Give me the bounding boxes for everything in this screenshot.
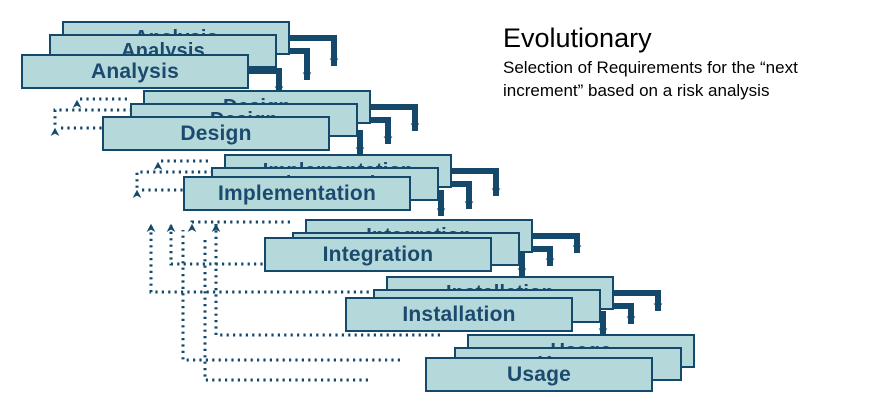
- phase-box-front-installation[interactable]: Installation: [345, 297, 573, 332]
- model-description: Selection of Requirements for the “next …: [503, 56, 875, 102]
- phase-label: Design: [180, 122, 251, 146]
- phase-box-front-usage[interactable]: Usage: [425, 357, 653, 392]
- evolutionary-model-diagram: AnalysisDesignImplementationIntegrationI…: [0, 0, 881, 407]
- model-title: Evolutionary: [503, 22, 875, 54]
- phase-label: Analysis: [91, 60, 179, 84]
- feedback-arrow-integration-to-implementation: [192, 222, 290, 224]
- phase-box-front-analysis[interactable]: Analysis: [21, 54, 249, 89]
- phase-label: Integration: [323, 243, 434, 267]
- phase-box-front-implementation[interactable]: Implementation: [183, 176, 411, 211]
- feedback-arrow-implementation-to-design: [158, 161, 208, 162]
- phase-label: Usage: [507, 363, 571, 387]
- phase-label: Implementation: [218, 182, 376, 206]
- phase-label: Installation: [402, 303, 515, 327]
- feedback-arrow-design-to-analysis: [77, 99, 127, 100]
- caption-block: Evolutionary Selection of Requirements f…: [503, 22, 875, 102]
- phase-box-front-integration[interactable]: Integration: [264, 237, 492, 272]
- phase-box-front-design[interactable]: Design: [102, 116, 330, 151]
